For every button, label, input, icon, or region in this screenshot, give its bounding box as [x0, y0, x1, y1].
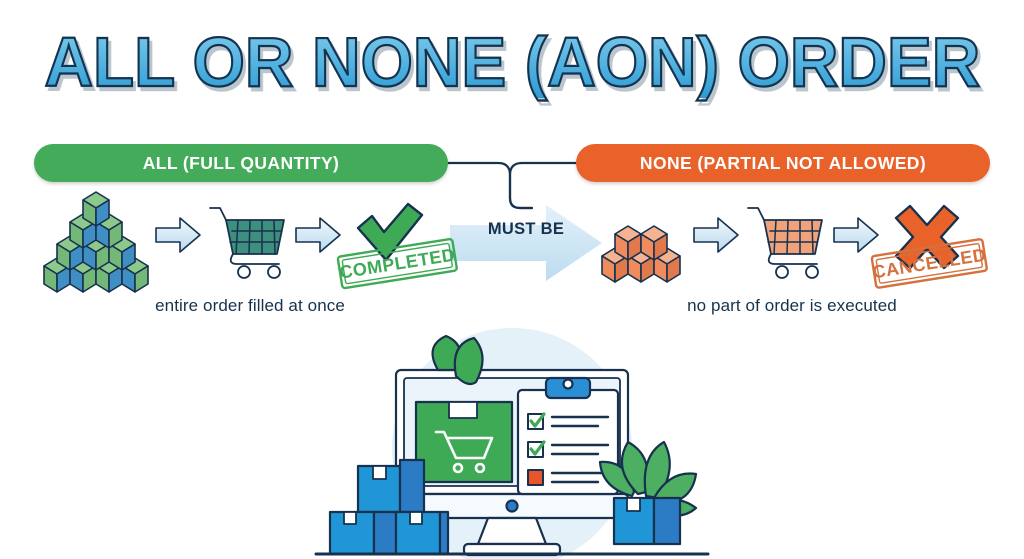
- step-arrow-3: [694, 218, 738, 252]
- page-title-container: ALL OR NONE (AON) ORDER: [0, 26, 1024, 98]
- banner-none-partial-not-allowed: NONE (PARTIAL NOT ALLOWED): [576, 144, 990, 182]
- banner-none-label: NONE (PARTIAL NOT ALLOWED): [640, 153, 926, 174]
- ecommerce-illustration: [316, 318, 708, 559]
- page-title: ALL OR NONE (AON) ORDER: [44, 26, 980, 98]
- banner-all-label: ALL (FULL QUANTITY): [143, 153, 340, 174]
- flow-row-all: COMPLETED: [40, 190, 460, 295]
- step-arrow-1: [156, 218, 200, 252]
- stamp-cancelled: CANCELLED: [870, 239, 988, 289]
- shopping-cart-green: [210, 208, 284, 278]
- caption-none: no part of order is executed: [596, 296, 988, 316]
- step-arrow-4: [834, 218, 878, 252]
- caption-all: entire order filled at once: [40, 296, 460, 316]
- infographic-canvas: ALL OR NONE (AON) ORDER ALL (FULL QUANTI…: [0, 0, 1024, 559]
- flow-row-none: CANCELLED: [596, 190, 988, 295]
- step-arrow-2: [296, 218, 340, 252]
- package-box-icon: [416, 402, 512, 482]
- shopping-cart-orange: [748, 208, 822, 278]
- branch-connector: [440, 150, 590, 210]
- must-be-arrow: [450, 205, 602, 281]
- banner-all-full-quantity: ALL (FULL QUANTITY): [34, 144, 448, 182]
- cube-stack-green: [44, 192, 148, 292]
- svg-text:COMPLETED: COMPLETED: [338, 245, 456, 283]
- cube-stack-orange: [602, 226, 680, 282]
- must-be-label: MUST BE: [466, 220, 586, 239]
